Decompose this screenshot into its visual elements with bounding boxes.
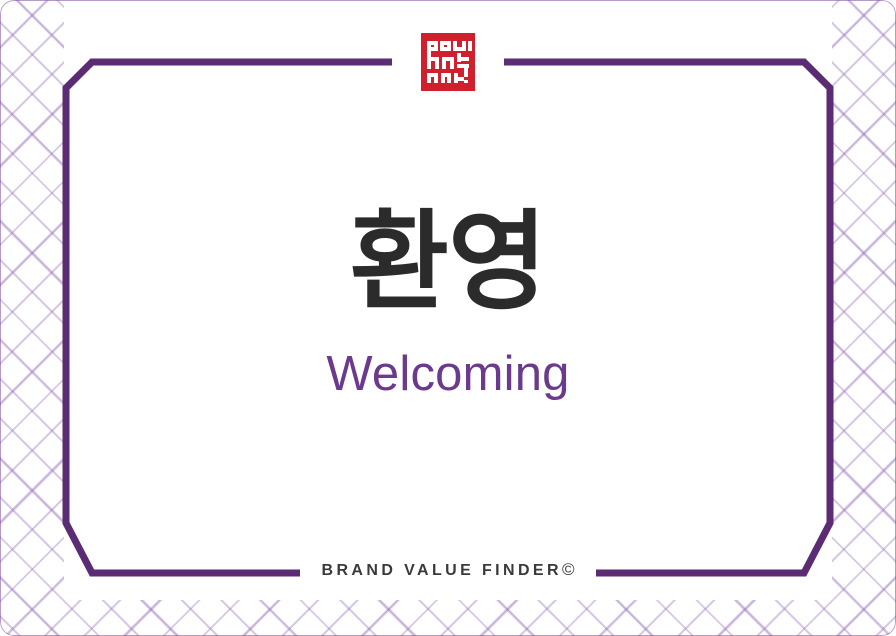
footer-brand-label: BRAND VALUE FINDER bbox=[322, 562, 562, 579]
copyright-icon: © bbox=[562, 560, 575, 579]
paulmark-logo-icon bbox=[421, 33, 475, 91]
inner-content-panel bbox=[64, 60, 832, 578]
paulmark-logo bbox=[421, 33, 475, 91]
welcome-card: 환영 Welcoming BRAND VALUE FINDER© bbox=[0, 0, 896, 636]
footer-brand-line: BRAND VALUE FINDER© bbox=[0, 560, 896, 580]
